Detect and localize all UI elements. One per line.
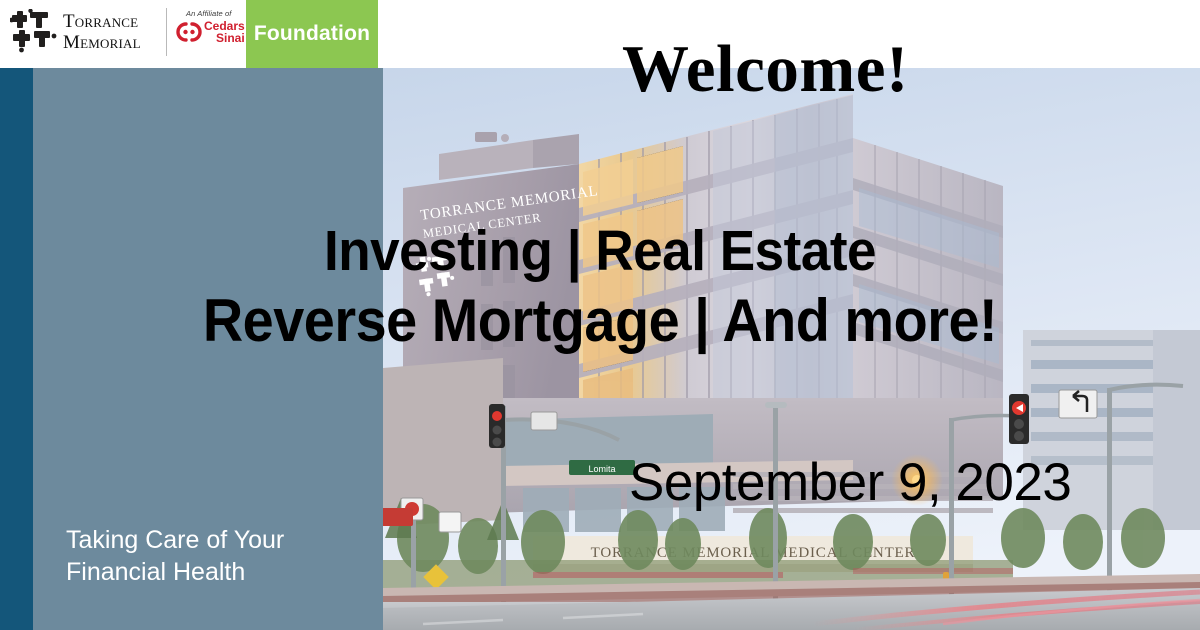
topics-headline: Investing | Real Estate Reverse Mortgage…: [42, 216, 1158, 356]
affiliate-tagline: An Affiliate of: [186, 9, 231, 18]
event-banner: TORRANCE MEMORIAL MEDICAL CENTER: [0, 0, 1200, 630]
brand-name-line1: Torrance: [63, 11, 158, 32]
brand-name-line2: Memorial: [63, 32, 158, 53]
header-bar: Torrance Memorial An Affiliate of Cedars…: [0, 0, 1200, 68]
welcome-heading: Welcome!: [622, 33, 909, 105]
event-date: September 9, 2023: [629, 452, 1071, 514]
sidebar-tagline-line1: Taking Care of Your: [66, 524, 366, 556]
torrance-memorial-wordmark: Torrance Memorial: [63, 11, 158, 55]
cedars-sinai-lockup: An Affiliate of Cedars Sinai: [176, 9, 240, 55]
sidebar-accent-stripe: [0, 68, 33, 630]
topics-headline-line1: Investing | Real Estate: [42, 216, 1158, 286]
foundation-label: Foundation: [246, 0, 378, 68]
topics-headline-line2: Reverse Mortgage | And more!: [42, 286, 1158, 356]
cedars-sinai-loop-icon: [176, 21, 202, 43]
street-sign-text: Lomita: [588, 464, 615, 474]
torrance-memorial-mark-icon: [10, 9, 58, 53]
cedars-sinai-name: Cedars Sinai: [204, 20, 245, 44]
header-divider: [166, 8, 167, 56]
affiliate-name-line2: Sinai: [204, 32, 245, 44]
sidebar-tagline: Taking Care of Your Financial Health: [66, 524, 366, 588]
sidebar-tagline-line2: Financial Health: [66, 556, 366, 588]
